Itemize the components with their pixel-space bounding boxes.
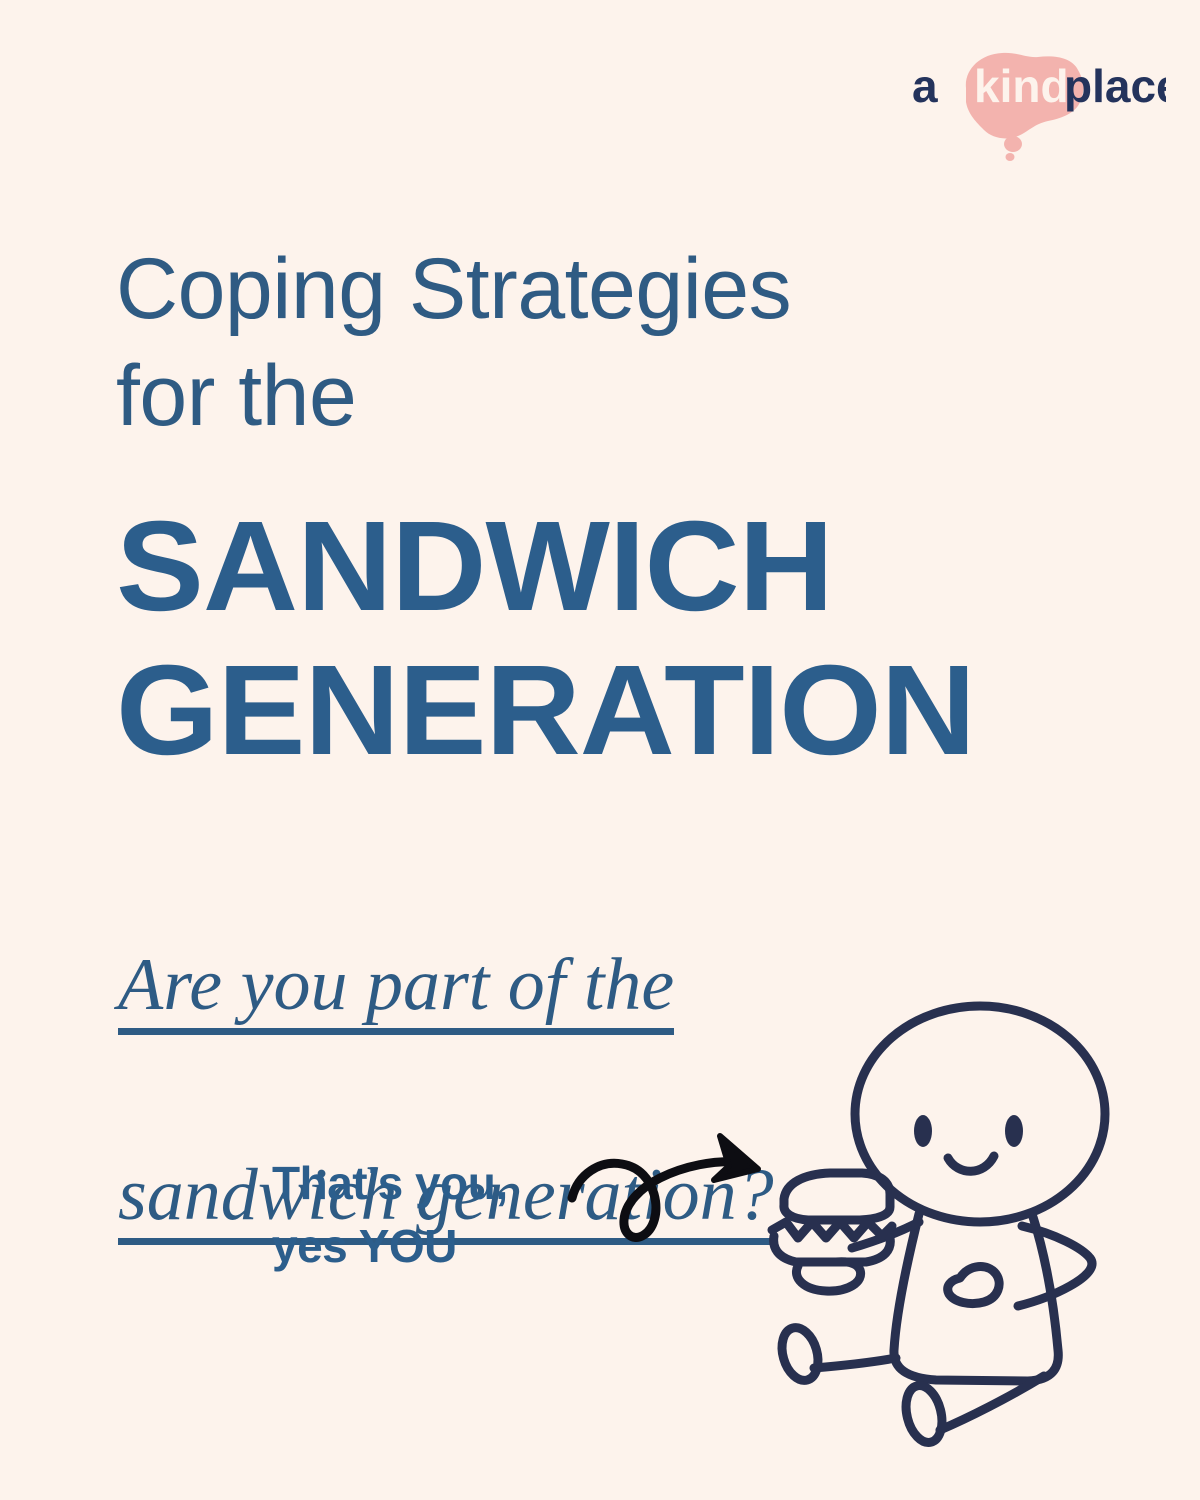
poster-canvas: a kind place Coping Strategies for the S… bbox=[0, 0, 1200, 1500]
callout-text: That’s you, yes YOU bbox=[272, 1152, 508, 1277]
subtitle-line-1-text: Are you part of the bbox=[118, 944, 674, 1035]
logo-word-place: place bbox=[1064, 60, 1166, 112]
right-eye bbox=[1005, 1115, 1023, 1147]
brand-logo-svg: a kind place bbox=[906, 44, 1166, 164]
left-foot bbox=[776, 1323, 824, 1384]
logo-word-kind: kind bbox=[974, 60, 1069, 112]
sandwich-filling bbox=[772, 1222, 892, 1238]
left-eye bbox=[914, 1115, 932, 1147]
smile bbox=[948, 1156, 994, 1171]
right-arm-akimbo bbox=[1018, 1226, 1092, 1306]
left-leg bbox=[814, 1358, 896, 1368]
headline-block: Coping Strategies for the SANDWICH GENER… bbox=[116, 236, 1096, 782]
right-foot bbox=[900, 1382, 947, 1447]
sandwich-icon bbox=[772, 1173, 892, 1291]
doodle-person-holding-sandwich-icon bbox=[756, 986, 1196, 1456]
sandwich-top-bun bbox=[784, 1173, 890, 1220]
page-title-bold: SANDWICH GENERATION bbox=[116, 449, 1125, 782]
hand bbox=[948, 1267, 999, 1304]
character-svg bbox=[756, 986, 1196, 1456]
brand-logo[interactable]: a kind place bbox=[906, 44, 1166, 164]
page-title-light: Coping Strategies for the bbox=[116, 236, 1096, 449]
logo-word-a: a bbox=[912, 60, 938, 112]
